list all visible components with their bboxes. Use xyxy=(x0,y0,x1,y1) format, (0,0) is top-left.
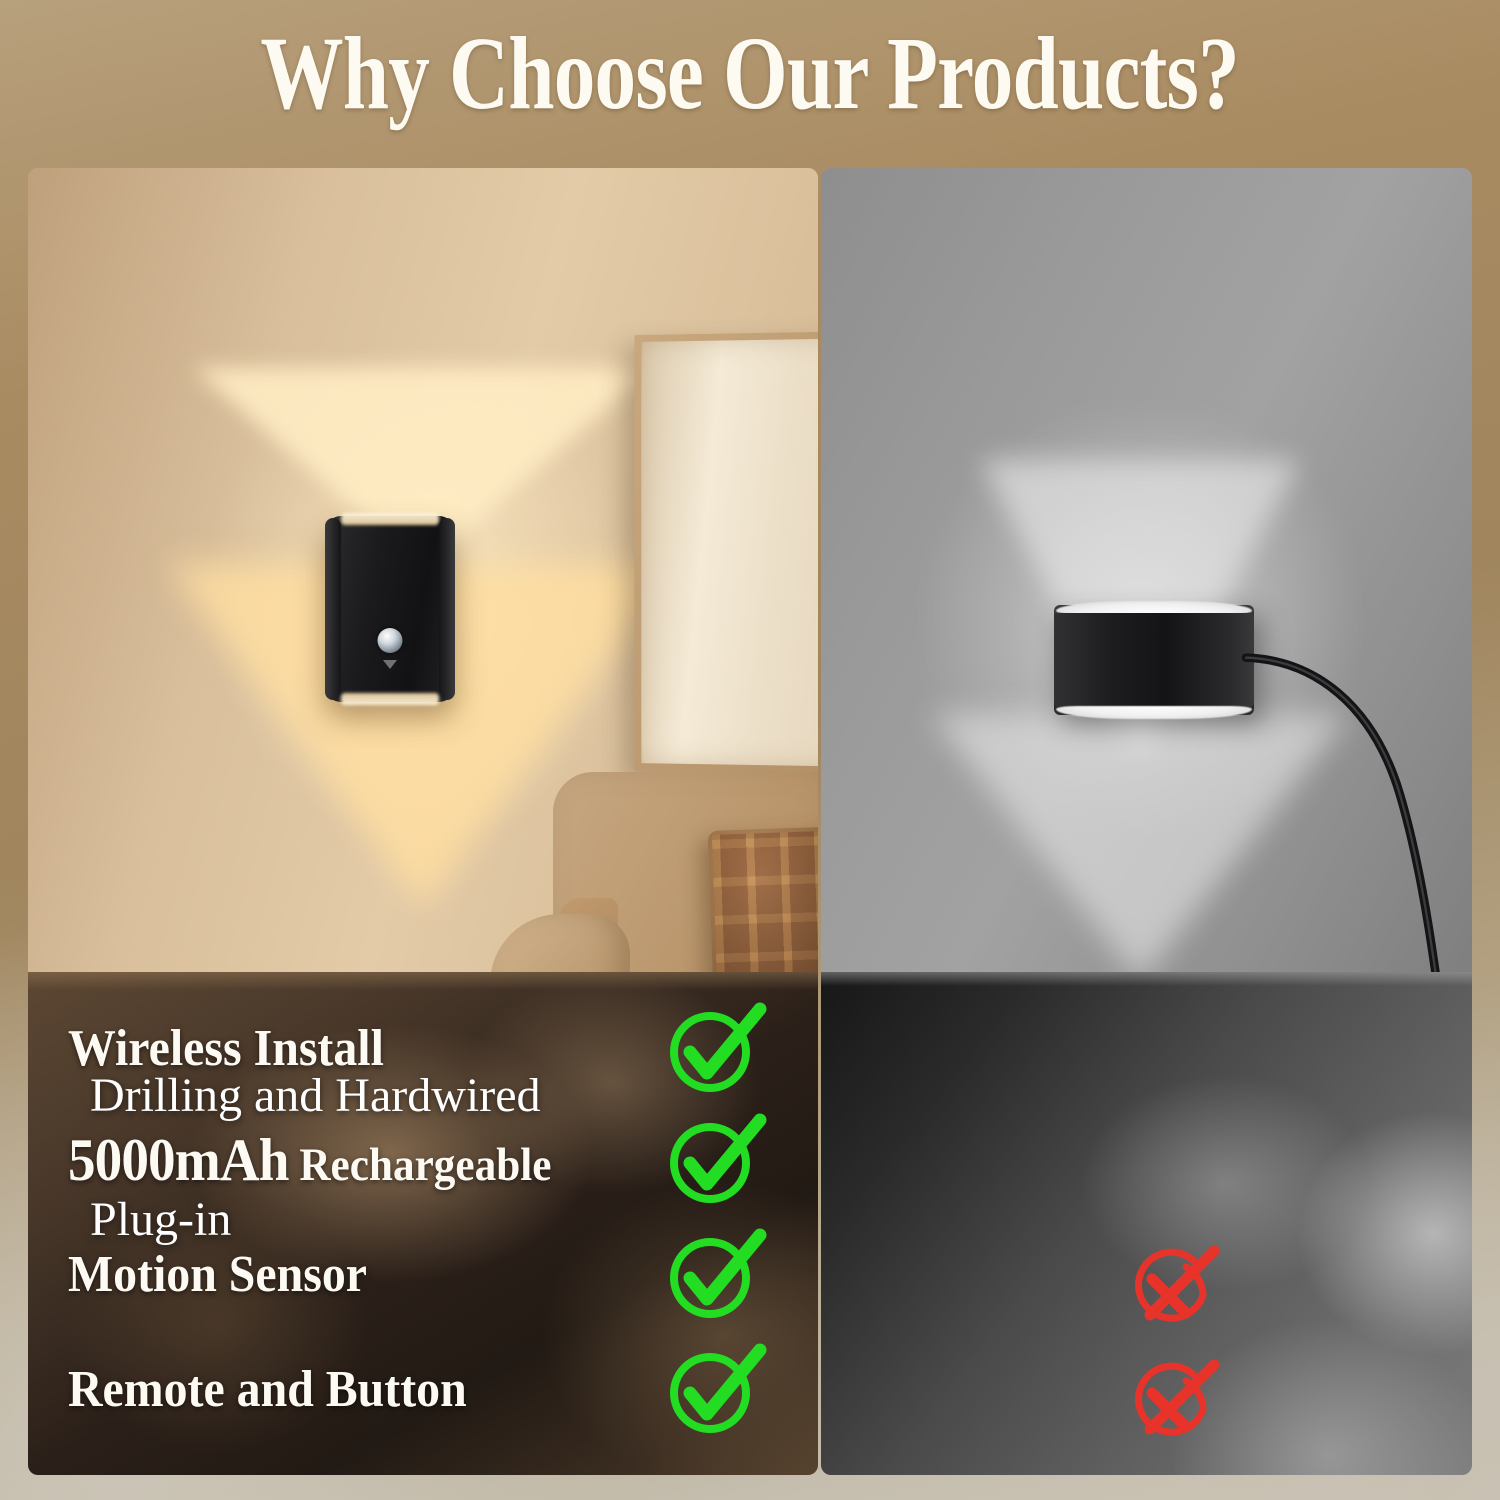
wireless-wall-lamp xyxy=(325,516,455,702)
page-title-area: Why Choose Our Products? xyxy=(0,14,1500,134)
motion-sensor-icon xyxy=(378,628,403,653)
pro-label: Wireless Install xyxy=(68,1023,602,1075)
pro-label-rest: Rechargeable xyxy=(289,1139,552,1191)
lamp-left-edge xyxy=(325,518,341,700)
green-check-circle-icon xyxy=(662,997,766,1101)
con-label: Drilling and Hardwired xyxy=(90,1072,541,1120)
photo-wireless-lamp-warm-room xyxy=(28,168,818,974)
artwork-canvas xyxy=(641,338,818,767)
downward-light-beam-gray xyxy=(930,714,1350,974)
photo-corded-lamp-gray-wall xyxy=(821,168,1472,974)
green-check-circle-icon xyxy=(662,1338,766,1442)
infographic-canvas: Why Choose Our Products? xyxy=(0,0,1500,1500)
lamp-right-edge xyxy=(439,518,455,700)
red-cross-circle-icon xyxy=(1124,1357,1220,1453)
green-check-circle-icon xyxy=(662,1108,766,1212)
indicator-triangle-icon xyxy=(383,660,397,669)
armchair xyxy=(498,768,818,974)
pro-label: Remote and Button xyxy=(68,1364,602,1416)
con-label: Plug-in xyxy=(90,1196,231,1244)
page-title: Why Choose Our Products? xyxy=(261,22,1240,126)
armchair-arm xyxy=(490,914,630,974)
woven-pillow xyxy=(708,825,818,974)
list-item: Remote and Button xyxy=(68,1335,778,1445)
lamp-body-face xyxy=(1054,613,1254,707)
green-check-circle-icon xyxy=(662,1223,766,1327)
pro-label: 5000mAh Rechargeable xyxy=(68,1130,602,1190)
corded-wall-lamp xyxy=(1054,605,1254,715)
pro-label: Motion Sensor xyxy=(68,1249,602,1301)
pro-label-emphasis: 5000mAh xyxy=(68,1127,289,1193)
red-cross-circle-icon xyxy=(1124,1243,1220,1339)
framed-artwork xyxy=(634,331,818,775)
